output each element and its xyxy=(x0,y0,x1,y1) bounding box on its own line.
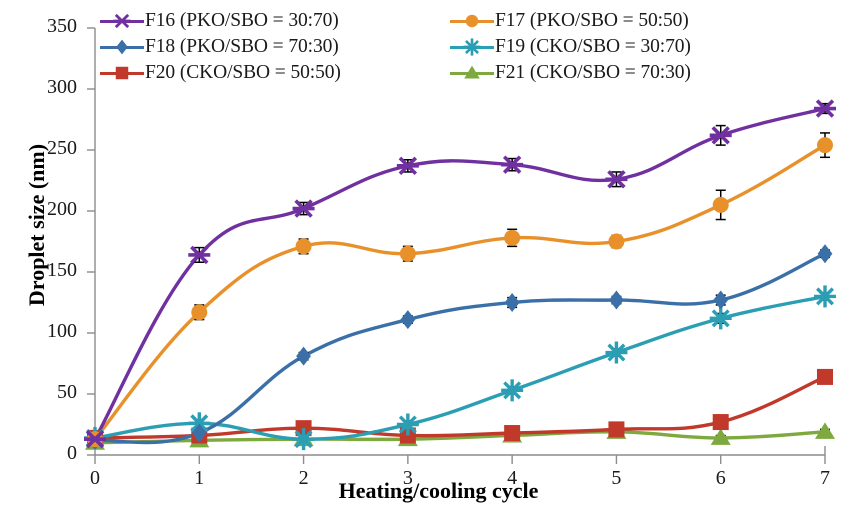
data-point xyxy=(713,414,729,430)
data-point xyxy=(191,304,207,320)
data-point xyxy=(293,428,315,450)
x-tick-label: 0 xyxy=(75,467,115,490)
y-tick-label: 300 xyxy=(31,76,77,99)
data-point xyxy=(608,234,624,250)
data-point xyxy=(296,347,311,366)
x-tick-label: 4 xyxy=(492,467,532,490)
data-point xyxy=(400,246,416,262)
data-point xyxy=(713,197,729,213)
data-point xyxy=(817,369,833,385)
y-tick-label: 200 xyxy=(31,198,77,221)
data-point xyxy=(605,342,627,364)
y-tick-label: 350 xyxy=(31,15,77,38)
data-point xyxy=(501,379,523,401)
y-tick-label: 150 xyxy=(31,259,77,282)
data-point xyxy=(504,425,520,441)
x-tick-label: 5 xyxy=(596,467,636,490)
data-point xyxy=(713,291,728,310)
data-point xyxy=(296,238,312,254)
plot-svg xyxy=(0,0,847,510)
y-tick-label: 100 xyxy=(31,320,77,343)
x-tick-label: 2 xyxy=(284,467,324,490)
data-point xyxy=(815,422,835,439)
data-point xyxy=(817,137,833,153)
x-tick-label: 1 xyxy=(179,467,219,490)
data-point xyxy=(397,414,419,436)
data-point xyxy=(710,307,732,329)
y-tick-label: 250 xyxy=(31,137,77,160)
data-point xyxy=(818,244,833,263)
y-tick-label: 0 xyxy=(31,442,77,465)
data-point xyxy=(814,285,836,307)
data-point xyxy=(505,293,520,312)
x-tick-label: 7 xyxy=(805,467,845,490)
data-point xyxy=(608,421,624,437)
data-point xyxy=(400,310,415,329)
chart-root: F16 (PKO/SBO = 30:70)F17 (PKO/SBO = 50:5… xyxy=(0,0,847,510)
series-line xyxy=(95,145,825,439)
plot-area: Droplet size (nm) Heating/cooling cycle … xyxy=(0,0,847,510)
series-line xyxy=(95,109,825,440)
x-tick-label: 6 xyxy=(701,467,741,490)
data-point xyxy=(504,230,520,246)
y-tick-label: 50 xyxy=(31,381,77,404)
data-point xyxy=(609,291,624,310)
x-tick-label: 3 xyxy=(388,467,428,490)
